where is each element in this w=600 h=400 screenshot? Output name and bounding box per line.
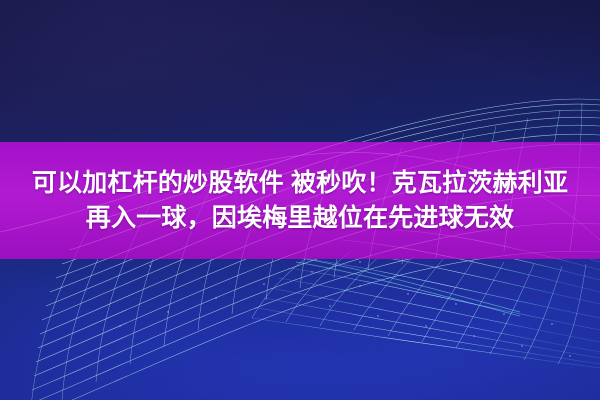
caption-line-1: 可以加杠杆的炒股软件 被秒吹！克瓦拉茨赫利亚	[32, 167, 568, 200]
banner-image: 可以加杠杆的炒股软件 被秒吹！克瓦拉茨赫利亚 再入一球，因埃梅里越位在先进球无效	[0, 0, 600, 400]
caption-text: 可以加杠杆的炒股软件 被秒吹！克瓦拉茨赫利亚 再入一球，因埃梅里越位在先进球无效	[0, 142, 600, 259]
caption-line-2: 再入一球，因埃梅里越位在先进球无效	[86, 202, 514, 235]
